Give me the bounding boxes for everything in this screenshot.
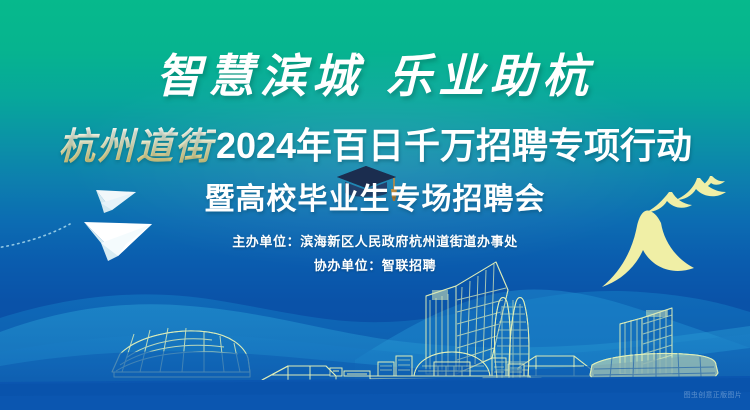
slogan-right: 乐业助杭 bbox=[386, 49, 594, 103]
watermark-text: 图虫创意正版图片 bbox=[684, 390, 742, 400]
title-bold-text: 2024年百日千万招聘专项行动 bbox=[216, 125, 692, 166]
subtitle-line: 暨高校毕业生专场招聘会 bbox=[0, 180, 750, 220]
poster-text-content: 智慧滨城乐业助杭 杭州道街2024年百日千万招聘专项行动 暨高校毕业生专场招聘会… bbox=[0, 0, 750, 410]
recruitment-poster: 智慧滨城乐业助杭 杭州道街2024年百日千万招聘专项行动 暨高校毕业生专场招聘会… bbox=[0, 0, 750, 410]
main-title-line: 杭州道街2024年百日千万招聘专项行动 bbox=[0, 124, 750, 177]
slogan-line: 智慧滨城乐业助杭 bbox=[0, 47, 750, 105]
slogan-left: 智慧滨城 bbox=[156, 49, 364, 103]
coorganizer-line: 协办单位：智联招聘 bbox=[0, 255, 750, 274]
title-brush-text: 杭州道街 bbox=[58, 124, 216, 168]
organizer-line: 主办单位：滨海新区人民政府杭州道街道办事处 bbox=[0, 231, 750, 250]
